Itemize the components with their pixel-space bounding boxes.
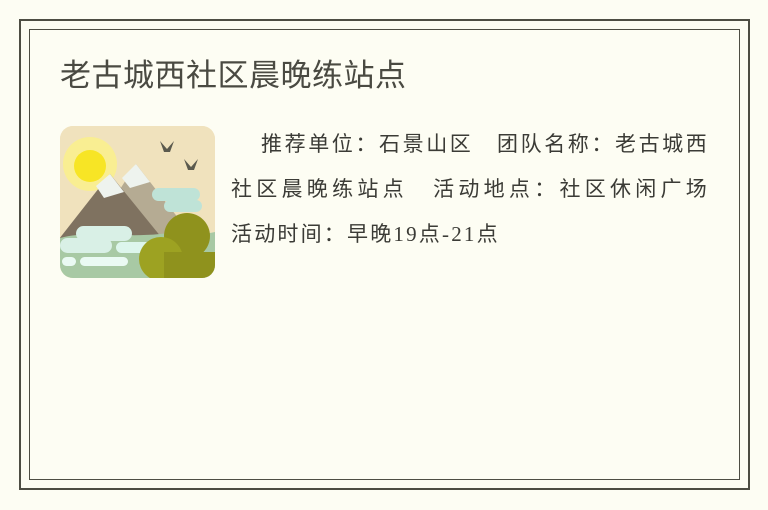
landscape-placeholder-image <box>60 126 215 278</box>
article-body: 推荐单位：石景山区 团队名称：老古城西社区晨晚练站点 活动地点：社区休闲广场 活… <box>60 122 709 284</box>
page-title: 老古城西社区晨晚练站点 <box>60 56 709 96</box>
document-frame-outer: 老古城西社区晨晚练站点 <box>19 19 750 490</box>
document-content: 老古城西社区晨晚练站点 <box>30 30 739 479</box>
document-frame-inner: 老古城西社区晨晚练站点 <box>29 29 740 480</box>
